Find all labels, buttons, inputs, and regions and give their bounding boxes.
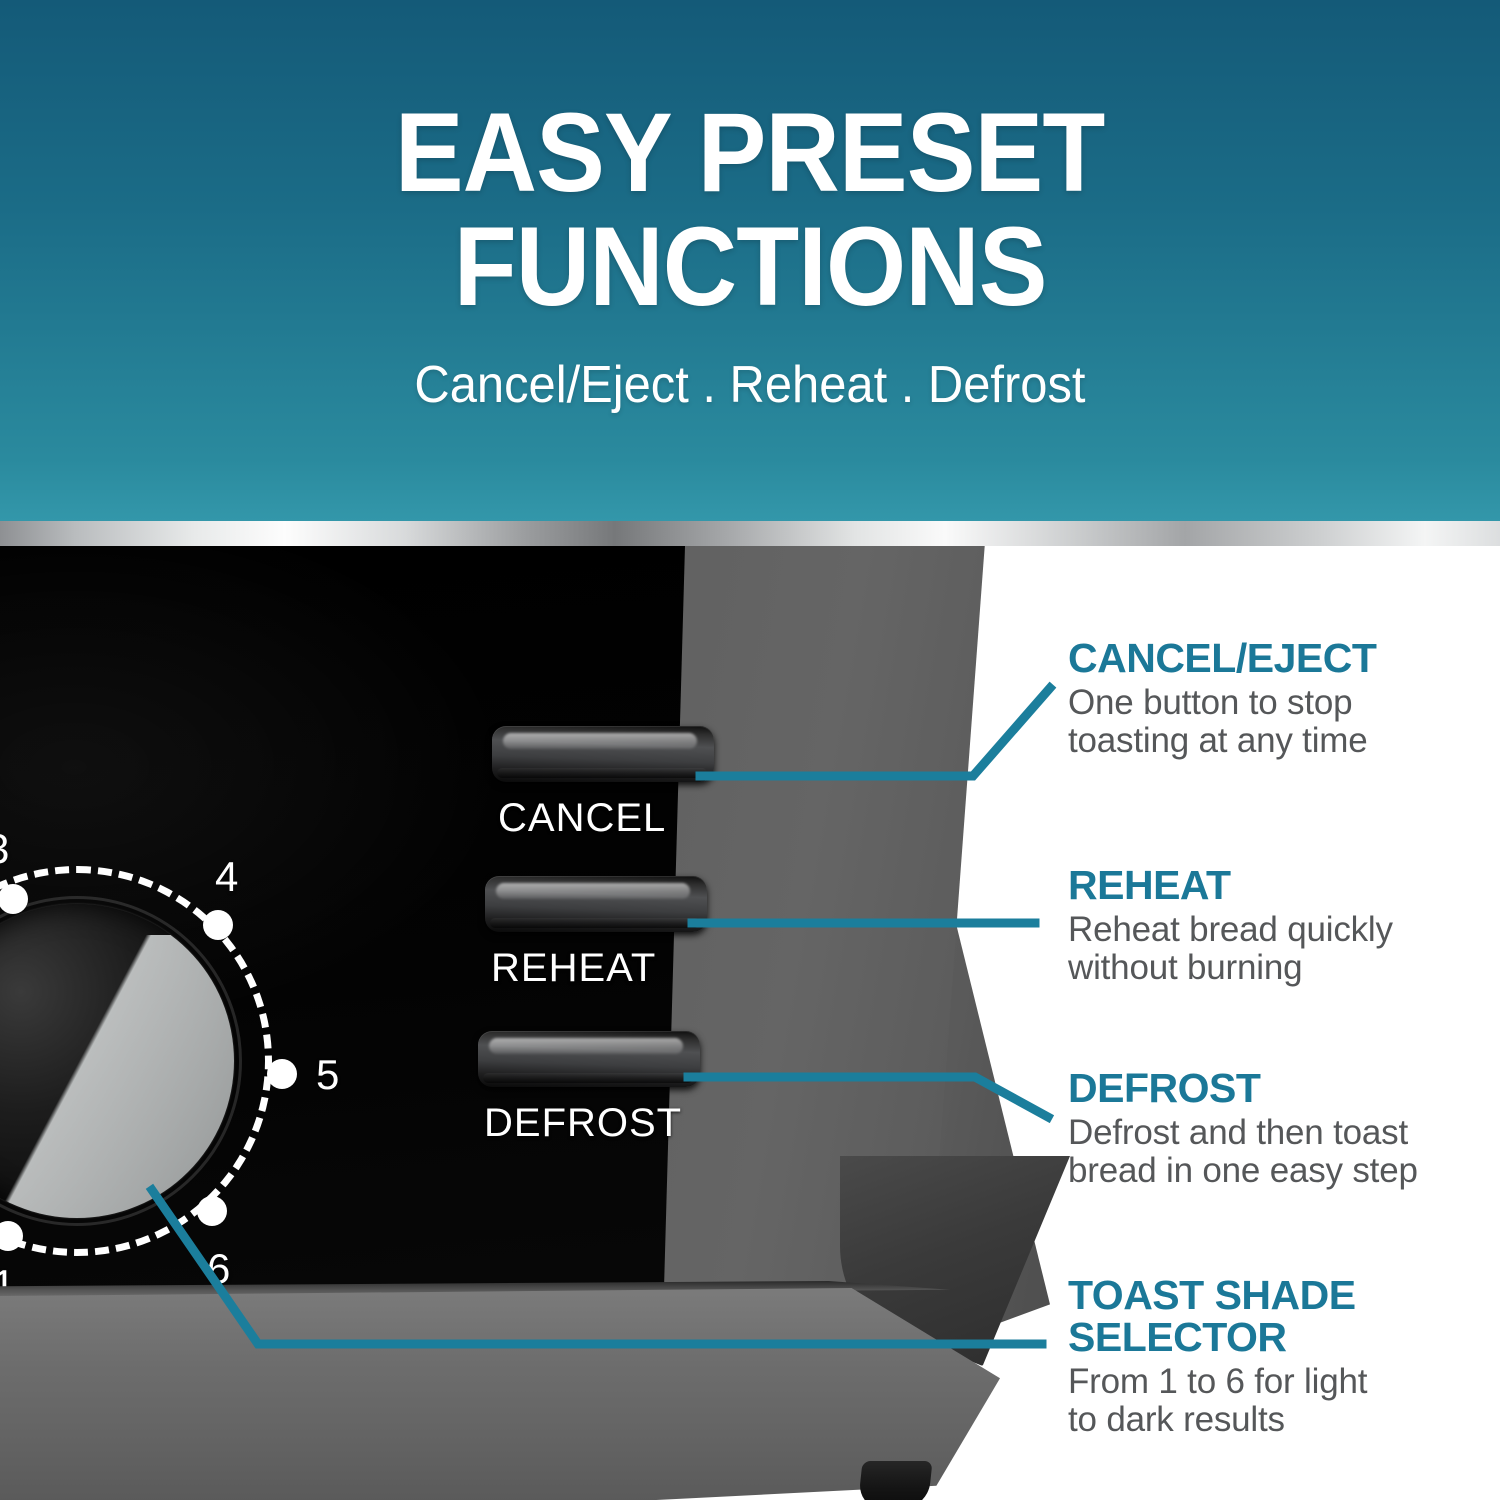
reheat-button-gloss: [496, 883, 690, 899]
reheat-button-lip: [490, 918, 700, 928]
callout-defrost: DEFROST Defrost and then toast bread in …: [1068, 1068, 1488, 1191]
dial-dot-5[interactable]: [267, 1059, 297, 1089]
toaster-foot: [857, 1461, 932, 1500]
metallic-divider-band: [0, 521, 1500, 546]
reheat-button[interactable]: [485, 876, 707, 932]
dial-dot-4[interactable]: [203, 910, 233, 940]
callout-shade-title-line-2: SELECTOR: [1068, 1317, 1488, 1359]
hero-subtitle: Cancel/Eject . Reheat . Defrost: [414, 359, 1085, 411]
defrost-button-label: DEFROST: [484, 1101, 682, 1146]
callout-defrost-title: DEFROST: [1068, 1068, 1488, 1110]
hero-title-line-2: FUNCTIONS: [454, 214, 1047, 320]
dial-label-6: 6: [207, 1248, 230, 1290]
header-banner: EASY PRESET FUNCTIONS Cancel/Eject . Reh…: [0, 0, 1500, 521]
dial-label-3: 3: [0, 828, 9, 870]
callout-cancel-title: CANCEL/EJECT: [1068, 638, 1488, 680]
callout-cancel-body-line-1: One button to stop: [1068, 684, 1488, 723]
callout-shade-body-line-1: From 1 to 6 for light: [1068, 1363, 1488, 1402]
dial-dot-6[interactable]: [197, 1196, 227, 1226]
dial-label-5: 5: [316, 1054, 339, 1096]
defrost-button-lip: [483, 1073, 693, 1083]
cancel-button[interactable]: [492, 726, 714, 782]
toaster-base: [0, 1288, 1000, 1500]
cancel-button-label: CANCEL: [498, 796, 666, 841]
callout-defrost-body-line-1: Defrost and then toast: [1068, 1114, 1488, 1153]
callout-cancel-body-line-2: toasting at any time: [1068, 722, 1488, 761]
callout-cancel-eject: CANCEL/EJECT One button to stop toasting…: [1068, 638, 1488, 761]
callout-reheat: REHEAT Reheat bread quickly without burn…: [1068, 865, 1488, 988]
callout-reheat-body-line-1: Reheat bread quickly: [1068, 911, 1488, 950]
callout-shade-body-line-2: to dark results: [1068, 1401, 1488, 1440]
defrost-button-gloss: [489, 1038, 683, 1054]
cancel-button-gloss: [503, 733, 697, 749]
callout-defrost-body-line-2: bread in one easy step: [1068, 1152, 1488, 1191]
callout-reheat-body: Reheat bread quickly without burning: [1068, 911, 1488, 988]
callout-defrost-body: Defrost and then toast bread in one easy…: [1068, 1114, 1488, 1191]
header-content: EASY PRESET FUNCTIONS Cancel/Eject . Reh…: [0, 0, 1500, 521]
toast-shade-selector-dial[interactable]: 3 4 5 6 1: [0, 866, 272, 1256]
callout-shade-title-line-1: TOAST SHADE: [1068, 1275, 1488, 1317]
cancel-button-lip: [497, 768, 707, 778]
callout-reheat-title: REHEAT: [1068, 865, 1488, 907]
hero-title-line-1: EASY PRESET: [395, 100, 1105, 206]
defrost-button[interactable]: [478, 1031, 700, 1087]
callout-reheat-body-line-2: without burning: [1068, 949, 1488, 988]
callout-cancel-body: One button to stop toasting at any time: [1068, 684, 1488, 761]
callout-shade-body: From 1 to 6 for light to dark results: [1068, 1363, 1488, 1440]
callout-toast-shade-selector: TOAST SHADE SELECTOR From 1 to 6 for lig…: [1068, 1275, 1488, 1440]
dial-label-4: 4: [215, 856, 238, 898]
reheat-button-label: REHEAT: [491, 946, 656, 991]
